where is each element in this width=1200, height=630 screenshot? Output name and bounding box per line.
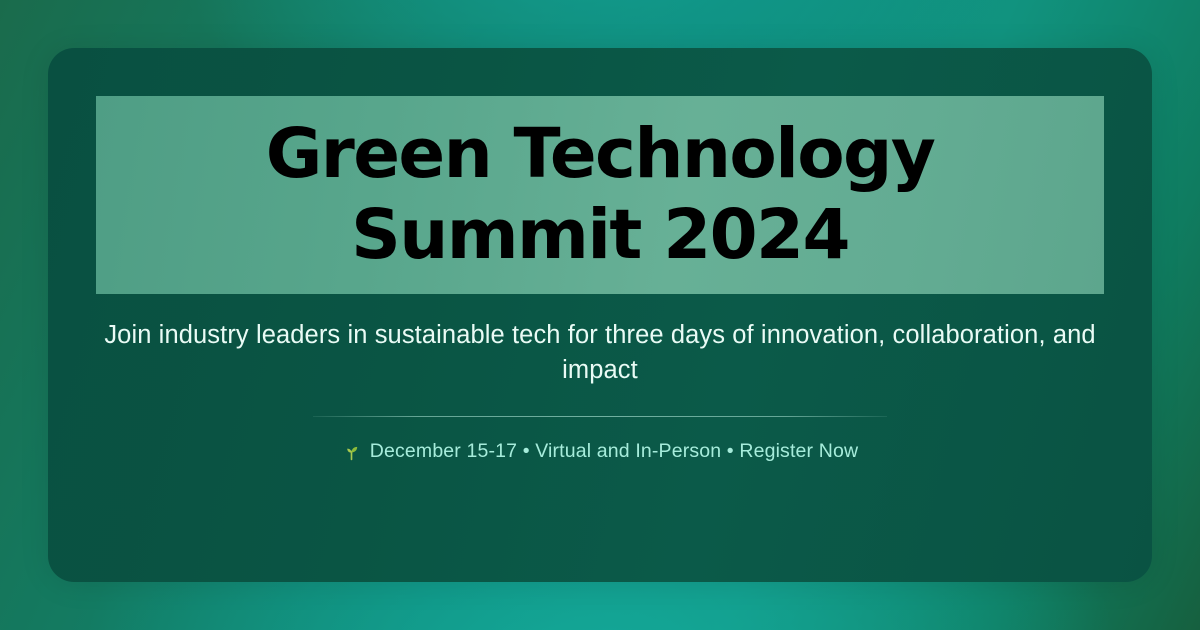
title-banner: Green Technology Summit 2024: [96, 96, 1104, 294]
divider: [313, 416, 887, 417]
page-title: Green Technology Summit 2024: [220, 114, 980, 275]
hero-subtitle: Join industry leaders in sustainable tec…: [95, 318, 1105, 388]
hero-content: Join industry leaders in sustainable tec…: [48, 318, 1152, 463]
event-details-text: December 15-17 • Virtual and In-Person •…: [370, 440, 858, 463]
event-details-bar: December 15-17 • Virtual and In-Person •…: [342, 440, 858, 463]
hero-card: Green Technology Summit 2024 Join indust…: [48, 48, 1152, 582]
sprout-icon: [342, 442, 361, 461]
